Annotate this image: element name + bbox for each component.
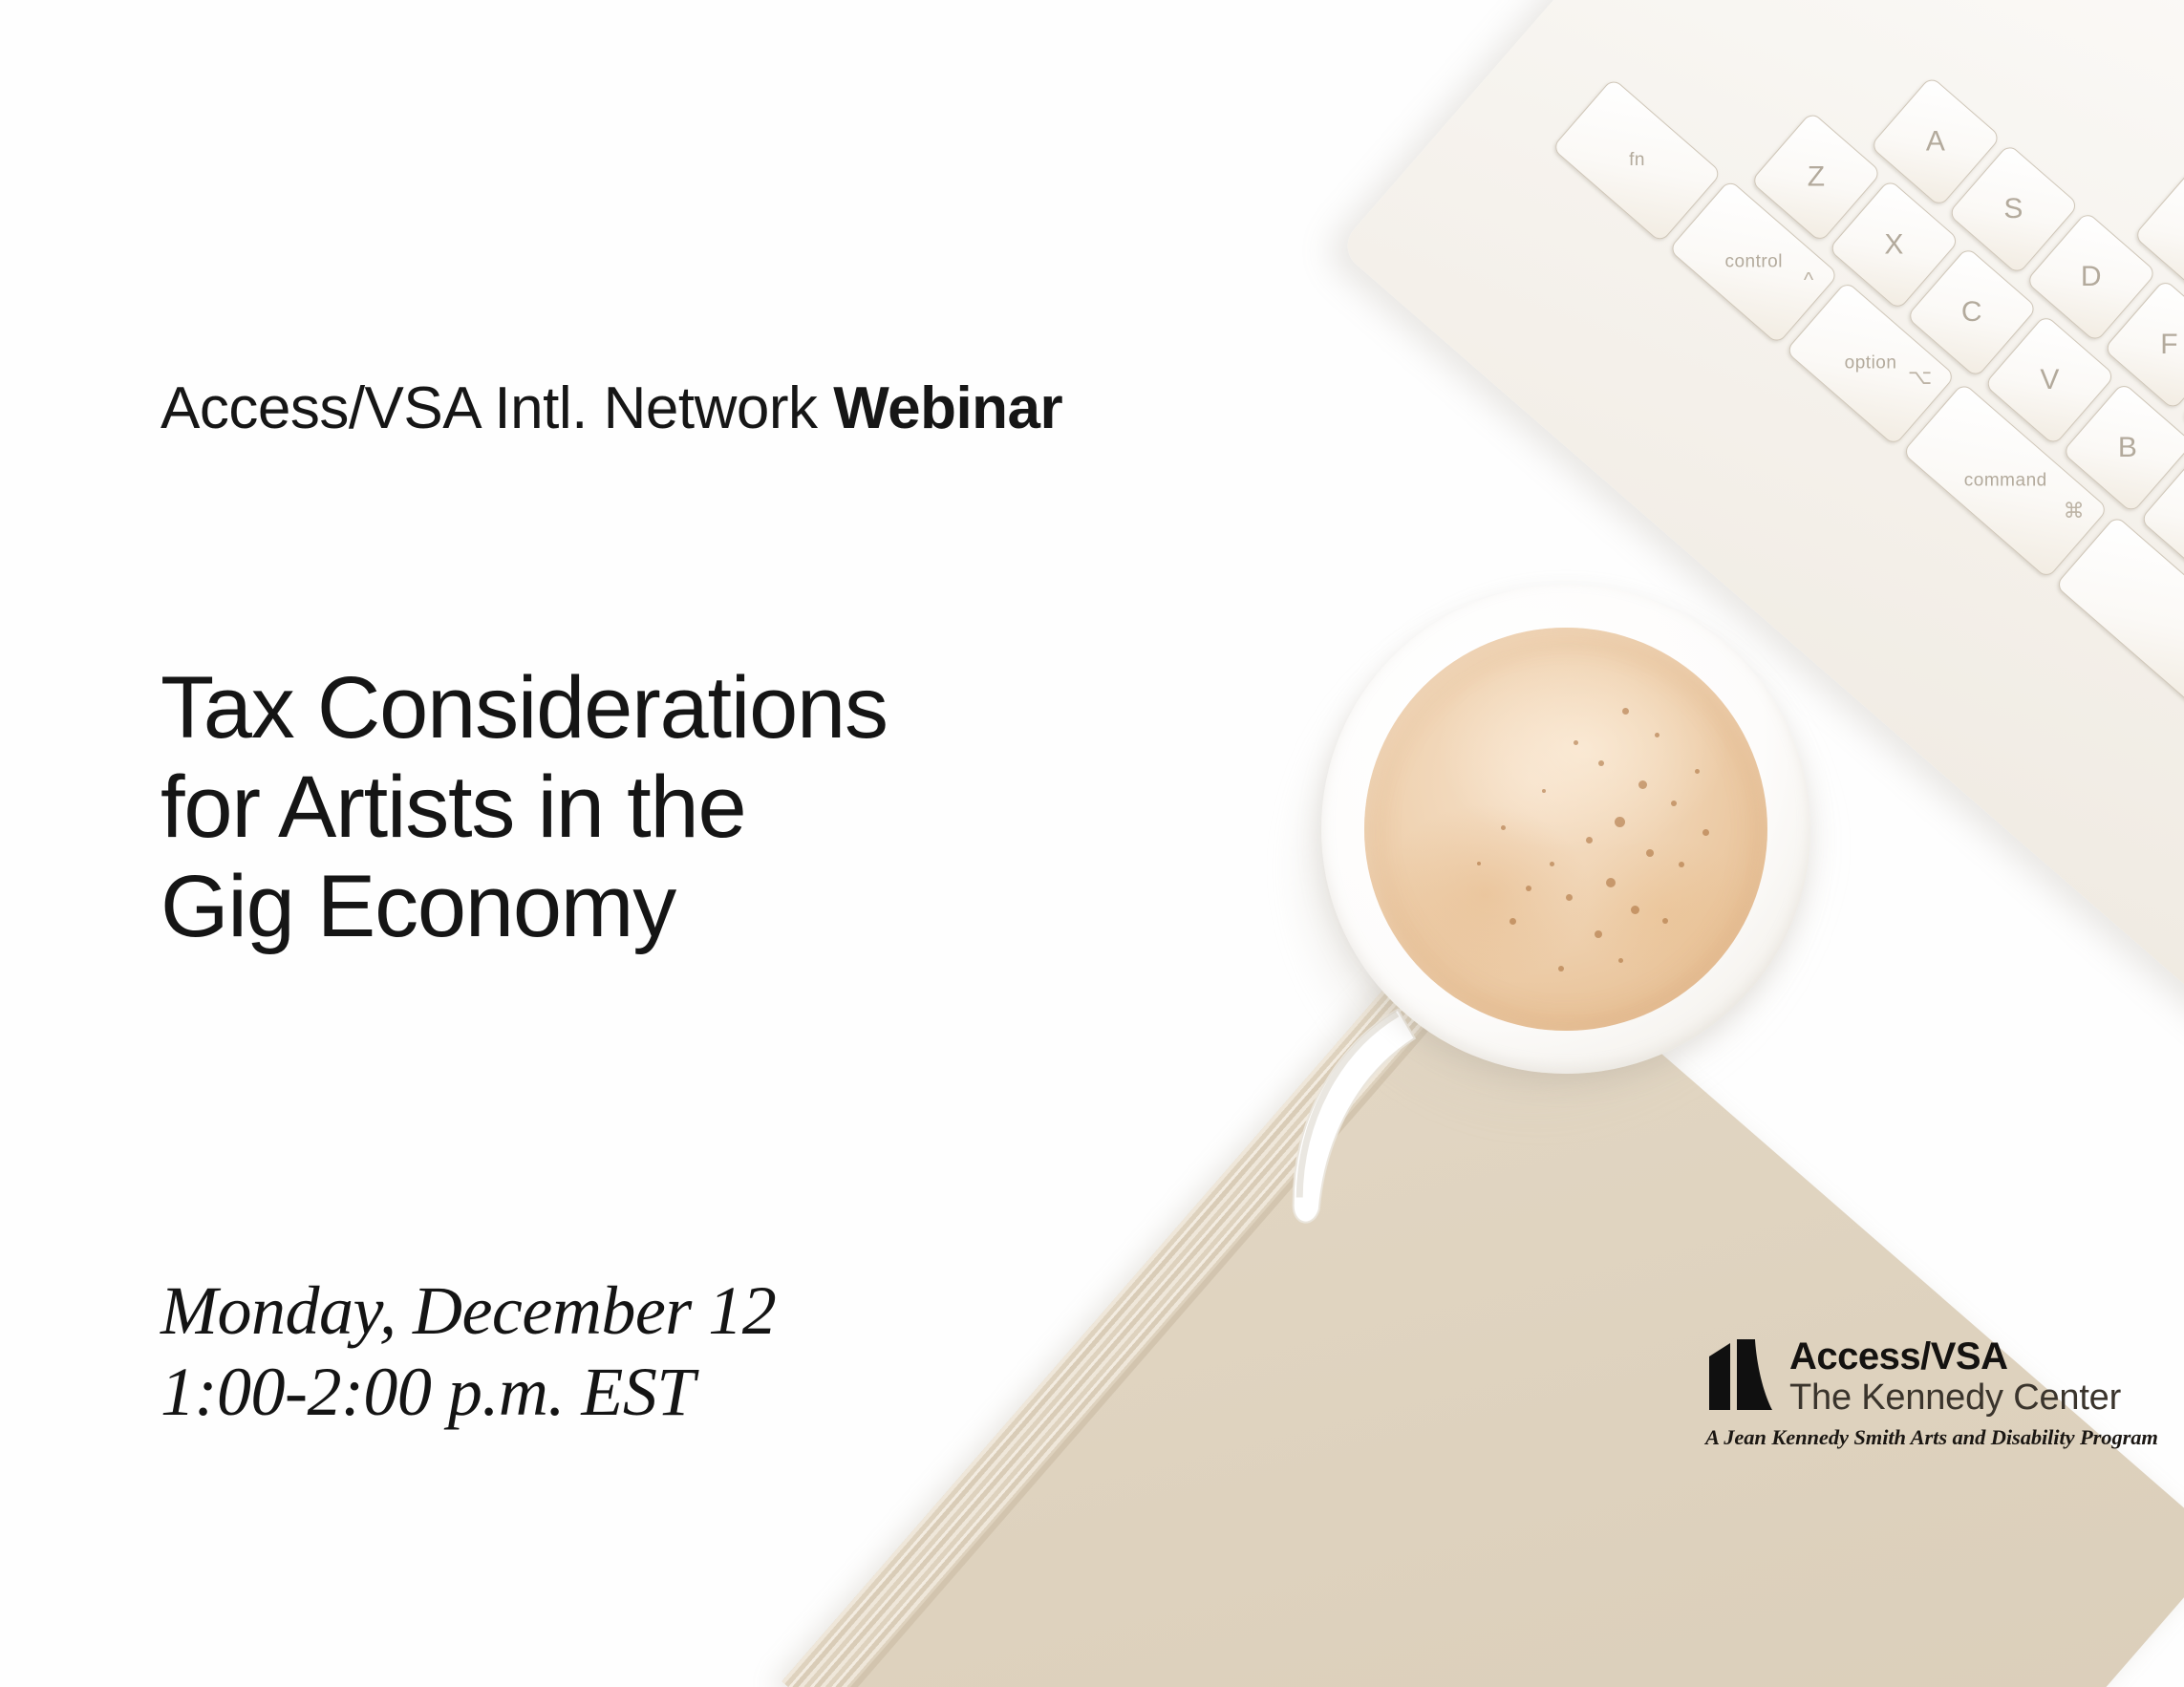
command-icon: ⌘ — [2064, 499, 2085, 523]
event-datetime: Monday, December 12 1:00-2:00 p.m. EST — [161, 1271, 776, 1433]
headline-line-3: Gig Economy — [161, 858, 888, 957]
key-control-label: control — [1724, 251, 1783, 272]
key-b-label: B — [2118, 432, 2138, 464]
key-f-label: F — [2160, 329, 2178, 361]
event-time: 1:00-2:00 p.m. EST — [161, 1352, 776, 1433]
logo-title: Access/VSA — [1789, 1337, 2121, 1376]
eyebrow-line: Access/VSA Intl. Network Webinar — [161, 374, 1062, 442]
key-a-label: A — [1926, 125, 1946, 158]
key-d-label: D — [2081, 261, 2102, 293]
eyebrow-prefix: Access/VSA Intl. Network — [161, 375, 833, 441]
key-c-label: C — [1961, 296, 1982, 329]
eyebrow-emphasis: Webinar — [833, 375, 1062, 441]
logo-lockup: Access/VSA The Kennedy Center — [1705, 1335, 2164, 1418]
logo-tagline: A Jean Kennedy Smith Arts and Disability… — [1705, 1425, 2164, 1450]
logo-subtitle: The Kennedy Center — [1789, 1378, 2121, 1418]
key-z-label: Z — [1807, 160, 1825, 193]
option-icon: ⌥ — [1908, 365, 1932, 390]
key-v-label: V — [2040, 364, 2060, 396]
logo-wordmark: Access/VSA The Kennedy Center — [1789, 1335, 2121, 1418]
coffee-crema — [1364, 628, 1767, 1031]
crema-bubbles — [1364, 628, 1767, 1031]
key-s-label: S — [2003, 193, 2023, 225]
key-fn-label: fn — [1629, 150, 1645, 171]
control-caret-icon: ^ — [1804, 267, 1813, 292]
key-command-left-label: command — [1963, 470, 2046, 491]
access-vsa-kennedy-center-logo: Access/VSA The Kennedy Center A Jean Ken… — [1705, 1335, 2164, 1450]
kennedy-center-columns-icon — [1705, 1335, 1776, 1416]
webinar-promo-poster: $4 %5 ^6 W E R T Y A S D F — [0, 0, 2184, 1687]
coffee-cup — [1321, 585, 1810, 1074]
key-x-label: X — [1884, 228, 1904, 261]
headline-line-2: for Artists in the — [161, 758, 888, 858]
key-option-label: option — [1844, 352, 1896, 374]
headline-line-1: Tax Considerations — [161, 659, 888, 758]
page-title: Tax Considerations for Artists in the Gi… — [161, 659, 888, 957]
event-date: Monday, December 12 — [161, 1271, 776, 1352]
